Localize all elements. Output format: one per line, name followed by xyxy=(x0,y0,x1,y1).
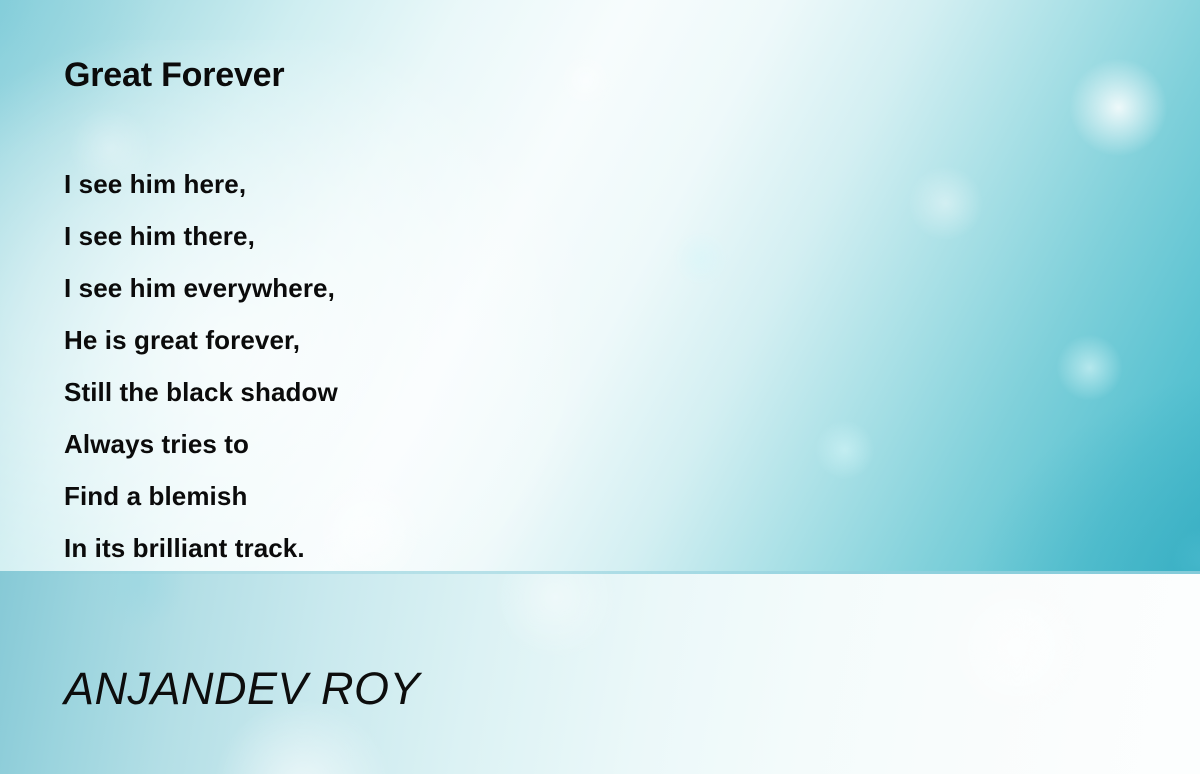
poem-author-name: ANJANDEV ROY xyxy=(64,664,420,714)
poem-line: I see him there, xyxy=(64,210,338,262)
poem-line: In its brilliant track. xyxy=(64,522,338,571)
poem-line: Find a blemish xyxy=(64,470,338,522)
poem-line: Always tries to xyxy=(64,418,338,470)
poem-top-panel: Great Forever I see him here, I see him … xyxy=(0,0,1200,571)
poem-line: I see him here, xyxy=(64,158,338,210)
poem-line: Still the black shadow xyxy=(64,366,338,418)
poem-line: He is great forever, xyxy=(64,314,338,366)
poem-line: I see him everywhere, xyxy=(64,262,338,314)
poem-title: Great Forever xyxy=(64,56,284,95)
footer-panel-top-seam xyxy=(0,571,1200,574)
poem-body: I see him here, I see him there, I see h… xyxy=(64,158,338,571)
poem-card: Great Forever I see him here, I see him … xyxy=(0,0,1200,774)
